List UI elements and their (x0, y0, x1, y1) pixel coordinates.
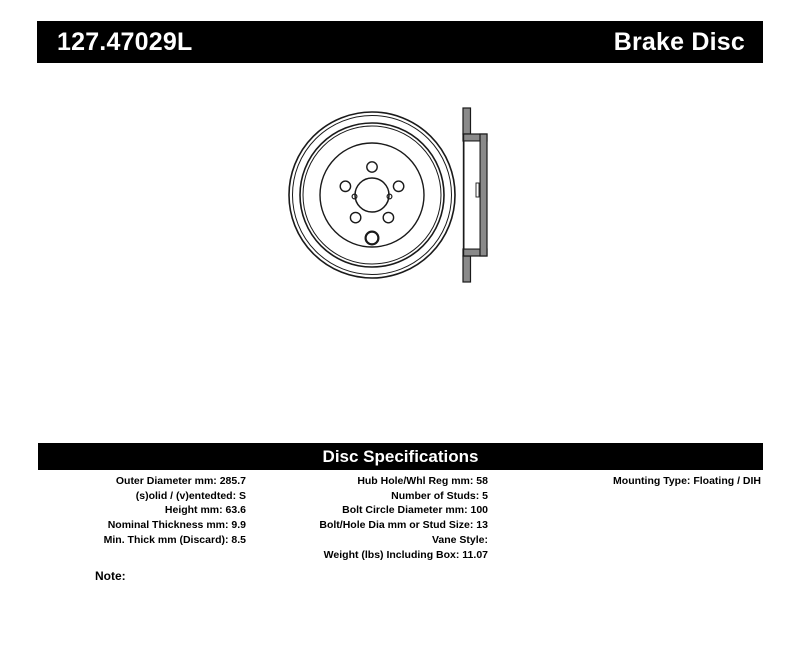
specs-column-left: Outer Diameter mm: 285.7 (s)olid / (v)en… (38, 474, 246, 548)
specs-column-middle: Hub Hole/Whl Reg mm: 58 Number of Studs:… (246, 474, 488, 562)
spec-row: Bolt/Hole Dia mm or Stud Size: 13 (264, 518, 488, 533)
spec-row: Vane Style: (264, 533, 488, 548)
spec-row: Number of Studs: 5 (264, 489, 488, 504)
spec-row: Nominal Thickness mm: 9.9 (38, 518, 246, 533)
spec-row: Mounting Type: Floating / DIH (488, 474, 761, 489)
spec-row: Outer Diameter mm: 285.7 (38, 474, 246, 489)
specifications-table: Outer Diameter mm: 285.7 (s)olid / (v)en… (38, 474, 763, 562)
spec-row: (s)olid / (v)entedted: S (38, 489, 246, 504)
specs-column-right: Mounting Type: Floating / DIH (488, 474, 763, 489)
product-type-label: Brake Disc (614, 30, 745, 55)
spec-row: Bolt Circle Diameter mm: 100 (264, 503, 488, 518)
note-label: Note: (95, 570, 126, 582)
header-bar: 127.47029L Brake Disc (37, 21, 763, 63)
product-drawing (250, 95, 550, 295)
specifications-header-bar: Disc Specifications (38, 443, 763, 470)
part-number: 127.47029L (57, 30, 192, 55)
spec-row: Min. Thick mm (Discard): 8.5 (38, 533, 246, 548)
brake-disc-edge-view (463, 108, 487, 282)
brake-disc-technical-drawing (250, 95, 550, 295)
specifications-title: Disc Specifications (323, 448, 479, 465)
spec-row: Weight (lbs) Including Box: 11.07 (264, 548, 488, 563)
brake-disc-face-view (289, 112, 455, 278)
spec-row: Height mm: 63.6 (38, 503, 246, 518)
spec-row: Hub Hole/Whl Reg mm: 58 (264, 474, 488, 489)
